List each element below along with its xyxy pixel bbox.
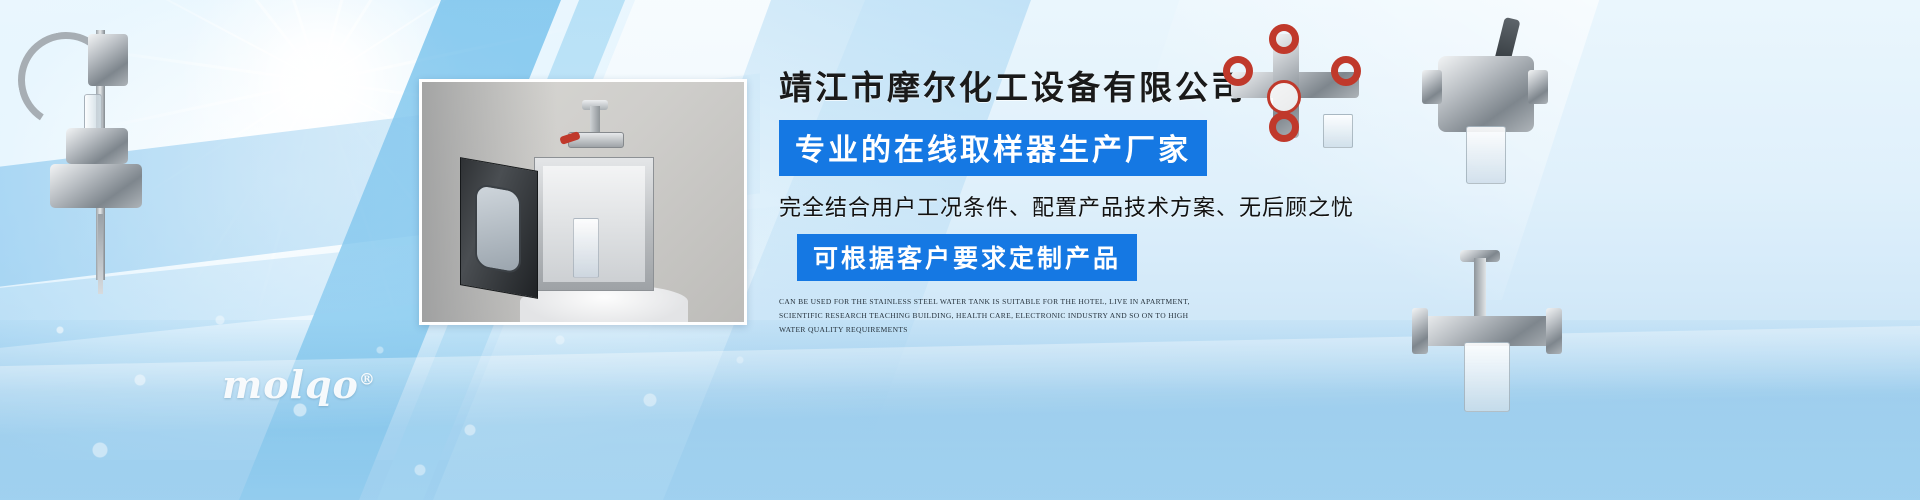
- sun-ray: [181, 0, 459, 303]
- lever-handle: [1491, 17, 1520, 75]
- equipment-left-sampler-probe: [10, 24, 160, 284]
- company-name: 靖江市摩尔化工设备有限公司: [779, 70, 1419, 106]
- promo-banner: 靖江市摩尔化工设备有限公司 专业的在线取样器生产厂家 完全结合用户工况条件、配置…: [0, 0, 1920, 500]
- sample-bottle: [573, 218, 599, 278]
- registered-trademark-icon: ®: [359, 369, 376, 388]
- sampler-housing: [88, 34, 128, 86]
- sampler-cabinet: [534, 157, 654, 291]
- subline-text: 完全结合用户工况条件、配置产品技术方案、无后顾之忧: [779, 190, 1419, 222]
- equipment-lever-valve: [1420, 22, 1550, 202]
- sight-glass-tube: [84, 94, 102, 164]
- collection-jar: [1466, 126, 1506, 184]
- cabinet-interior: [543, 166, 645, 282]
- valve-block-upper: [66, 128, 128, 164]
- handwheel-icon: [1269, 24, 1299, 54]
- brand-logo: molqo®: [222, 362, 376, 407]
- valve-block-lower: [50, 164, 142, 208]
- sun-ray: [251, 0, 388, 333]
- product-photo: [419, 79, 747, 325]
- tagline-highlight: 专业的在线取样器生产厂家: [779, 120, 1207, 176]
- custom-order-highlight: 可根据客户要求定制产品: [797, 234, 1137, 281]
- sun-ray: [238, 0, 402, 329]
- brand-logo-text: molqo: [222, 362, 359, 407]
- probe-needle: [98, 214, 103, 294]
- product-photo-image: [422, 82, 744, 322]
- top-valve-assembly: [562, 104, 628, 162]
- vertical-pipe: [96, 30, 105, 280]
- valve-stem: [1474, 258, 1486, 320]
- cabinet-door: [460, 157, 538, 299]
- flange-right: [1528, 70, 1548, 104]
- flange-left: [1422, 70, 1442, 104]
- support-arc: [9, 23, 123, 137]
- english-description: Can be used for the stainless steel wate…: [779, 295, 1199, 337]
- copy-block: 靖江市摩尔化工设备有限公司 专业的在线取样器生产厂家 完全结合用户工况条件、配置…: [779, 70, 1419, 337]
- door-window: [475, 183, 521, 275]
- valve-body: [1438, 56, 1534, 132]
- valve-cap: [1460, 250, 1500, 262]
